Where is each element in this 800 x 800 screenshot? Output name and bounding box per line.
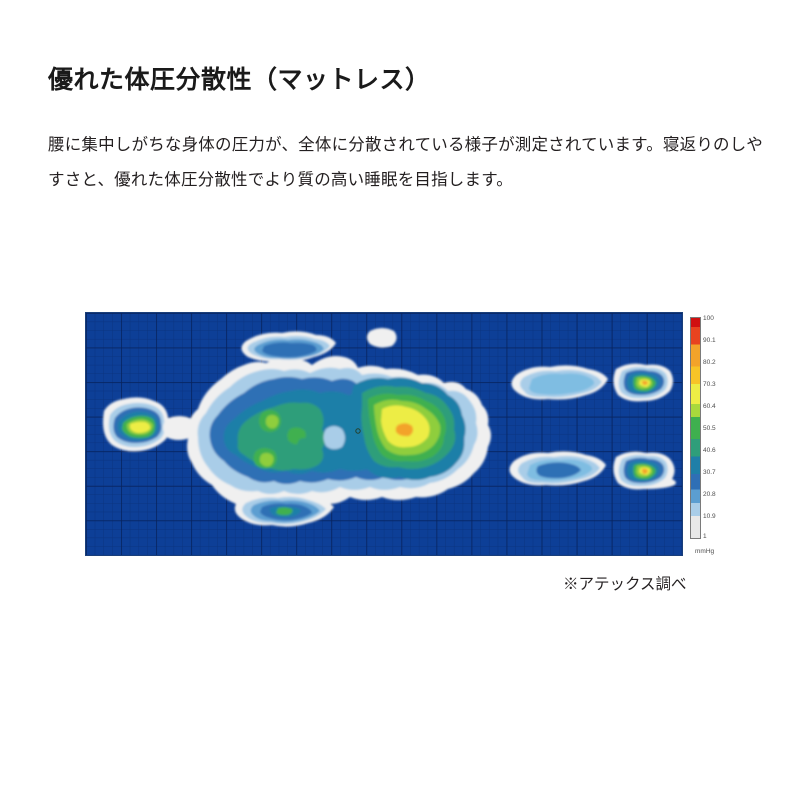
page-title: 優れた体圧分散性（マットレス） <box>48 60 431 96</box>
colorbar-tick-70: 70.3 <box>703 381 716 388</box>
colorbar-tick-20: 20.8 <box>703 491 716 498</box>
page-root: 優れた体圧分散性（マットレス） 腰に集中しがちな身体の圧力が、全体に分散されてい… <box>0 0 800 800</box>
colorbar-tick-60: 60.4 <box>703 403 716 410</box>
colorbar-tick-labels: 100 90.1 80.2 70.3 60.4 50.5 40.6 30.7 2… <box>703 317 733 539</box>
colorbar-gradient-strip <box>690 317 701 539</box>
colorbar-tick-1: 1 <box>703 533 707 540</box>
colorbar-tick-50: 50.5 <box>703 425 716 432</box>
colorbar-tick-80: 80.2 <box>703 359 716 366</box>
colorbar-tick-30: 30.7 <box>703 469 716 476</box>
figure-caption: ※アテックス調べ <box>563 572 687 594</box>
colorbar-tick-90: 90.1 <box>703 337 716 344</box>
colorbar-tick-40: 40.6 <box>703 447 716 454</box>
heatmap-svg <box>86 313 682 555</box>
body-paragraph: 腰に集中しがちな身体の圧力が、全体に分散されている様子が測定されています。寝返り… <box>48 128 774 198</box>
pressure-map-figure: 100 90.1 80.2 70.3 60.4 50.5 40.6 30.7 2… <box>85 312 730 557</box>
heatmap-plot-area <box>85 312 683 556</box>
colorbar-unit-label: mmHg <box>695 548 714 555</box>
colorbar-tick-10: 10.9 <box>703 513 716 520</box>
pressure-colorbar: 100 90.1 80.2 70.3 60.4 50.5 40.6 30.7 2… <box>690 317 730 557</box>
colorbar-tick-100: 100 <box>703 315 714 322</box>
